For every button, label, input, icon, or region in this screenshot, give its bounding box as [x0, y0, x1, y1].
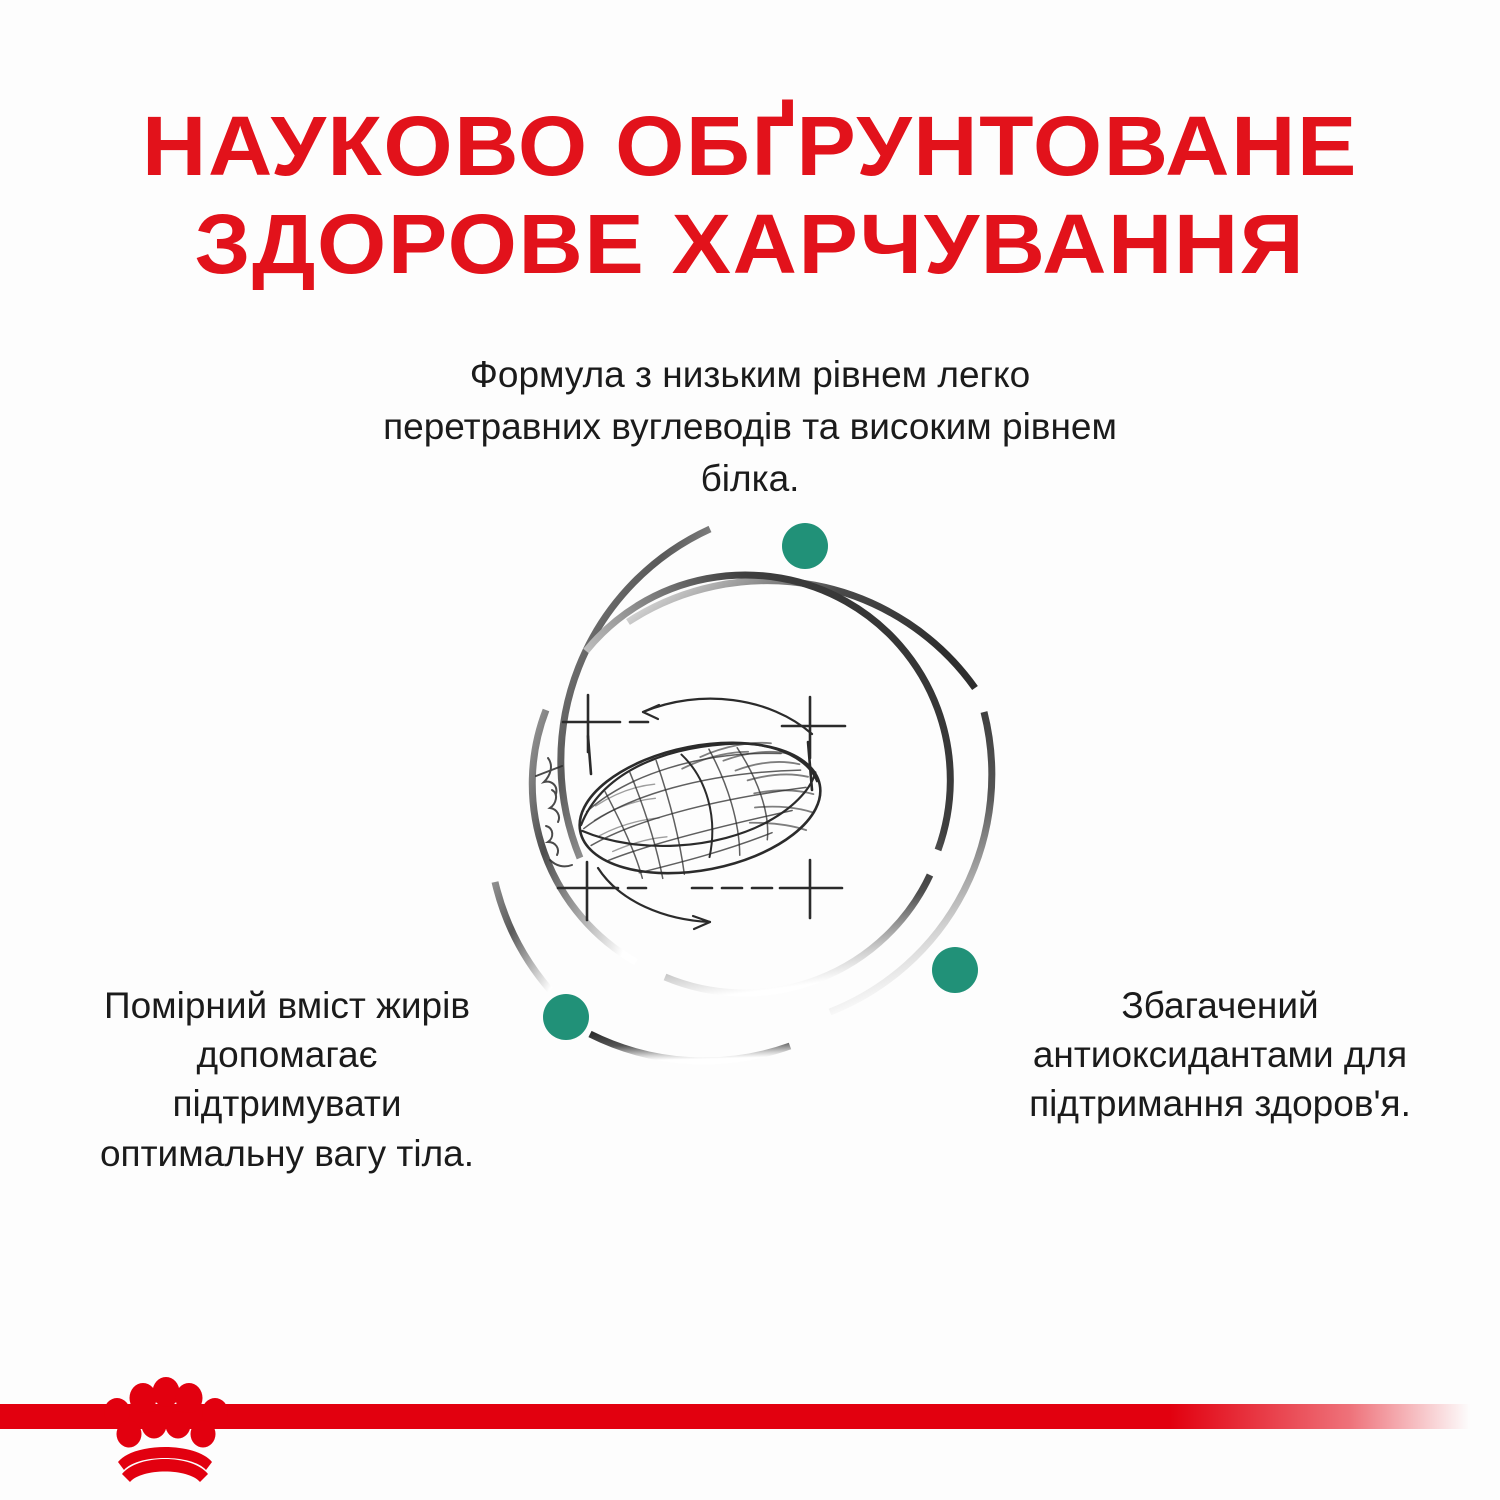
page-title-line-2: ЗДОРОВЕ ХАРЧУВАННЯ — [0, 196, 1500, 293]
inner-ring — [532, 575, 950, 993]
accent-dot-right — [932, 947, 978, 993]
kibble-sketch — [536, 695, 845, 929]
royal-canin-crown-logo — [96, 1376, 234, 1486]
kibble-graphic — [460, 490, 1040, 1070]
caption-right-antioxidants: Збагачений антиоксидантами для підтриман… — [980, 981, 1460, 1129]
accent-dot-top — [782, 523, 828, 569]
promo-page: НАУКОВО ОБҐРУНТОВАНЕ ЗДОРОВЕ ХАРЧУВАННЯ … — [0, 0, 1500, 1500]
page-title: НАУКОВО ОБҐРУНТОВАНЕ ЗДОРОВЕ ХАРЧУВАННЯ — [0, 98, 1500, 293]
dimension-arrow-top — [643, 699, 812, 734]
page-title-line-1: НАУКОВО ОБҐРУНТОВАНЕ — [0, 98, 1500, 195]
intro-paragraph: Формула з низьким рівнем легко перетравн… — [375, 349, 1125, 504]
caption-left-fat-content: Помірний вміст жирів допомагає підтримув… — [78, 981, 496, 1178]
dimension-arrow-bottom — [598, 868, 710, 929]
kibble-body — [568, 724, 831, 892]
accent-dot-bottom-left — [543, 994, 589, 1040]
outer-ring — [495, 529, 992, 1061]
crosshair-top-left — [563, 695, 648, 774]
